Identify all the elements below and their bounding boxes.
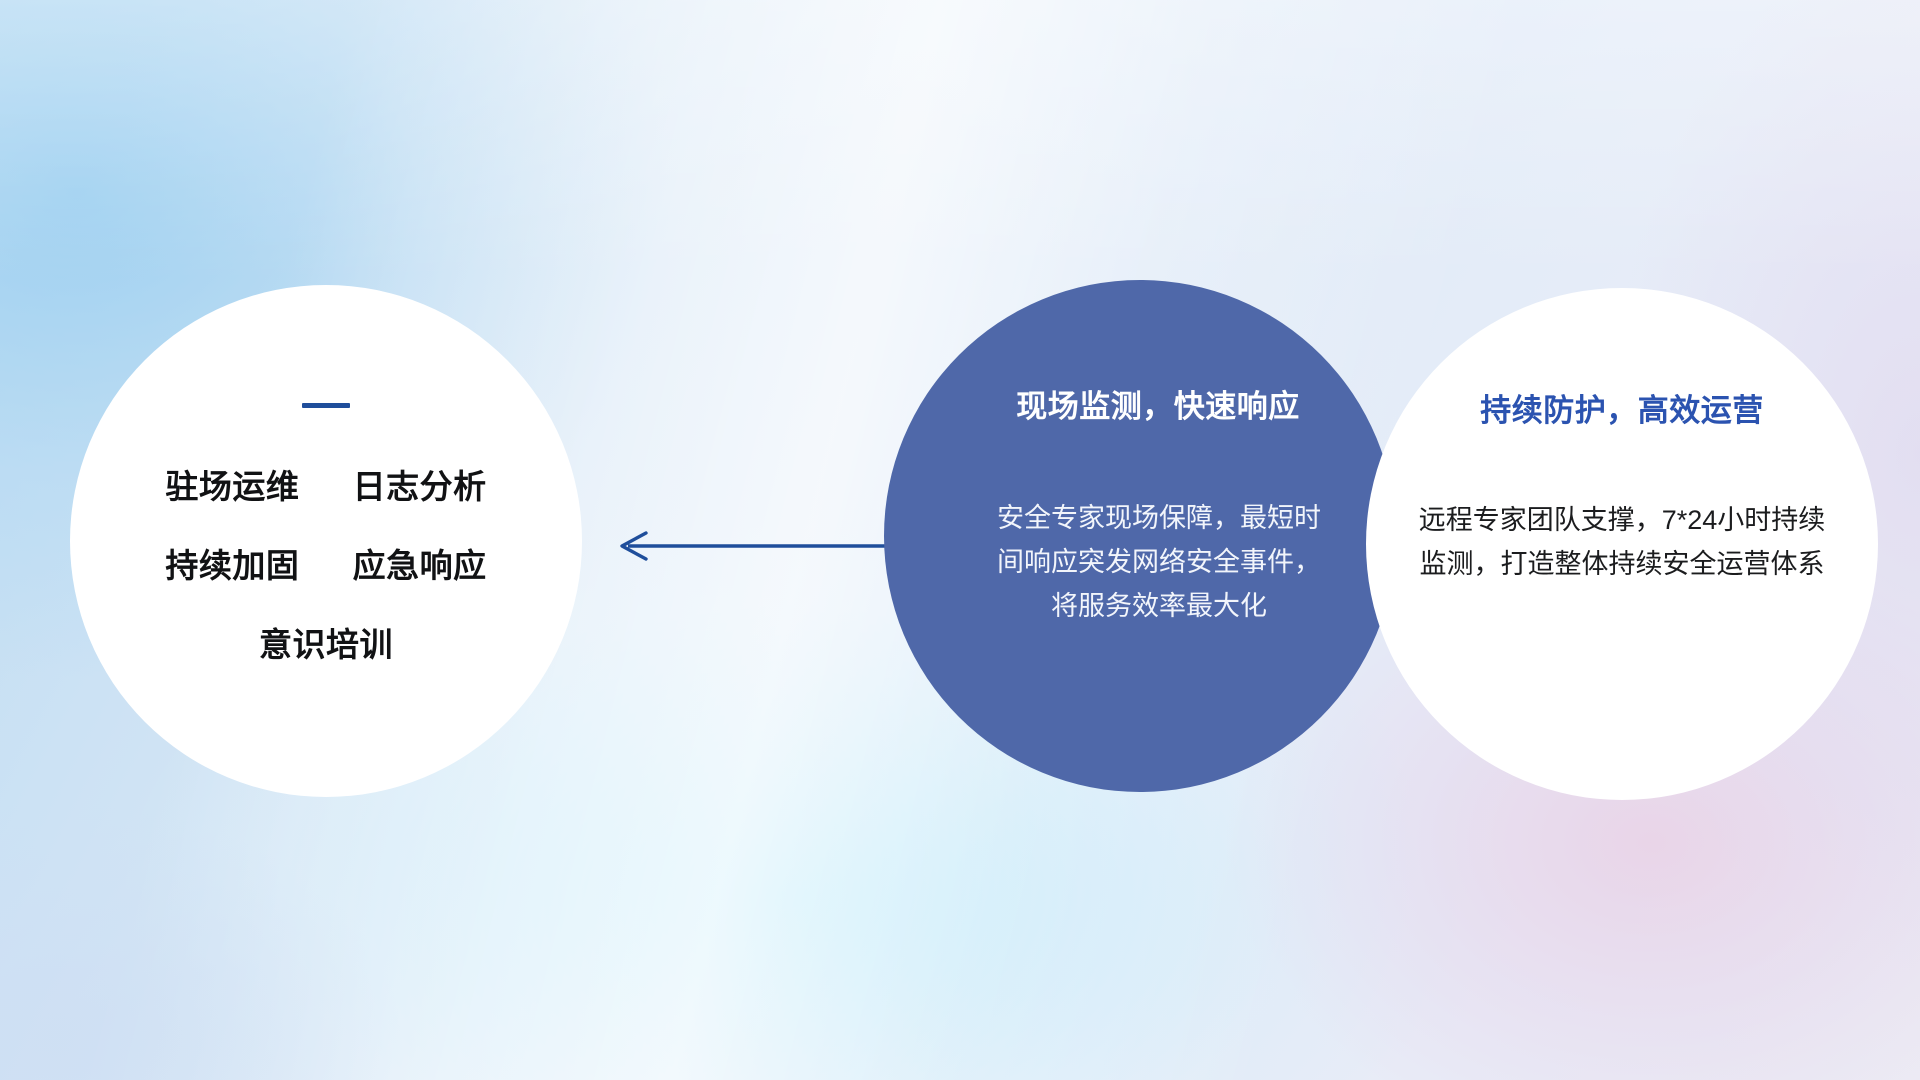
right-operations-circle[interactable]: 持续防护，高效运营 远程专家团队支撑，7*24小时持续监测，打造整体持续安全运营… bbox=[1366, 288, 1878, 800]
right-circle-title: 持续防护，高效运营 bbox=[1480, 392, 1764, 429]
middle-circle-title: 现场监测，快速响应 bbox=[1016, 388, 1300, 425]
capability-label-2b: 应急响应 bbox=[353, 547, 487, 584]
middle-circle-content: 现场监测，快速响应 安全专家现场保障，最短时间响应突发网络安全事件，将服务效率最… bbox=[884, 280, 1396, 792]
flow-arrow-icon bbox=[600, 520, 900, 572]
capability-label-1b: 日志分析 bbox=[353, 468, 487, 505]
capability-row-1: 驻场运维 日志分析 bbox=[165, 470, 486, 503]
capability-label-1a: 驻场运维 bbox=[165, 468, 299, 505]
capability-row-3: 意识培训 bbox=[259, 628, 393, 661]
middle-circle-body: 安全专家现场保障，最短时间响应突发网络安全事件，将服务效率最大化 bbox=[994, 497, 1324, 628]
divider-rule-icon bbox=[302, 403, 350, 408]
left-circle-content: 驻场运维 日志分析 持续加固 应急响应 意识培训 bbox=[70, 285, 582, 797]
left-capability-circle[interactable]: 驻场运维 日志分析 持续加固 应急响应 意识培训 bbox=[70, 285, 582, 797]
capability-row-2: 持续加固 应急响应 bbox=[165, 549, 486, 582]
capability-label-2a: 持续加固 bbox=[165, 547, 299, 584]
right-circle-body: 远程专家团队支撑，7*24小时持续监测，打造整体持续安全运营体系 bbox=[1417, 499, 1827, 586]
capability-label-3a: 意识培训 bbox=[259, 626, 393, 663]
slide-canvas: 驻场运维 日志分析 持续加固 应急响应 意识培训 现场监测，快速响应 安全专家现… bbox=[0, 0, 1920, 1080]
middle-onsite-circle[interactable]: 现场监测，快速响应 安全专家现场保障，最短时间响应突发网络安全事件，将服务效率最… bbox=[884, 280, 1396, 792]
right-circle-content: 持续防护，高效运营 远程专家团队支撑，7*24小时持续监测，打造整体持续安全运营… bbox=[1366, 288, 1878, 800]
